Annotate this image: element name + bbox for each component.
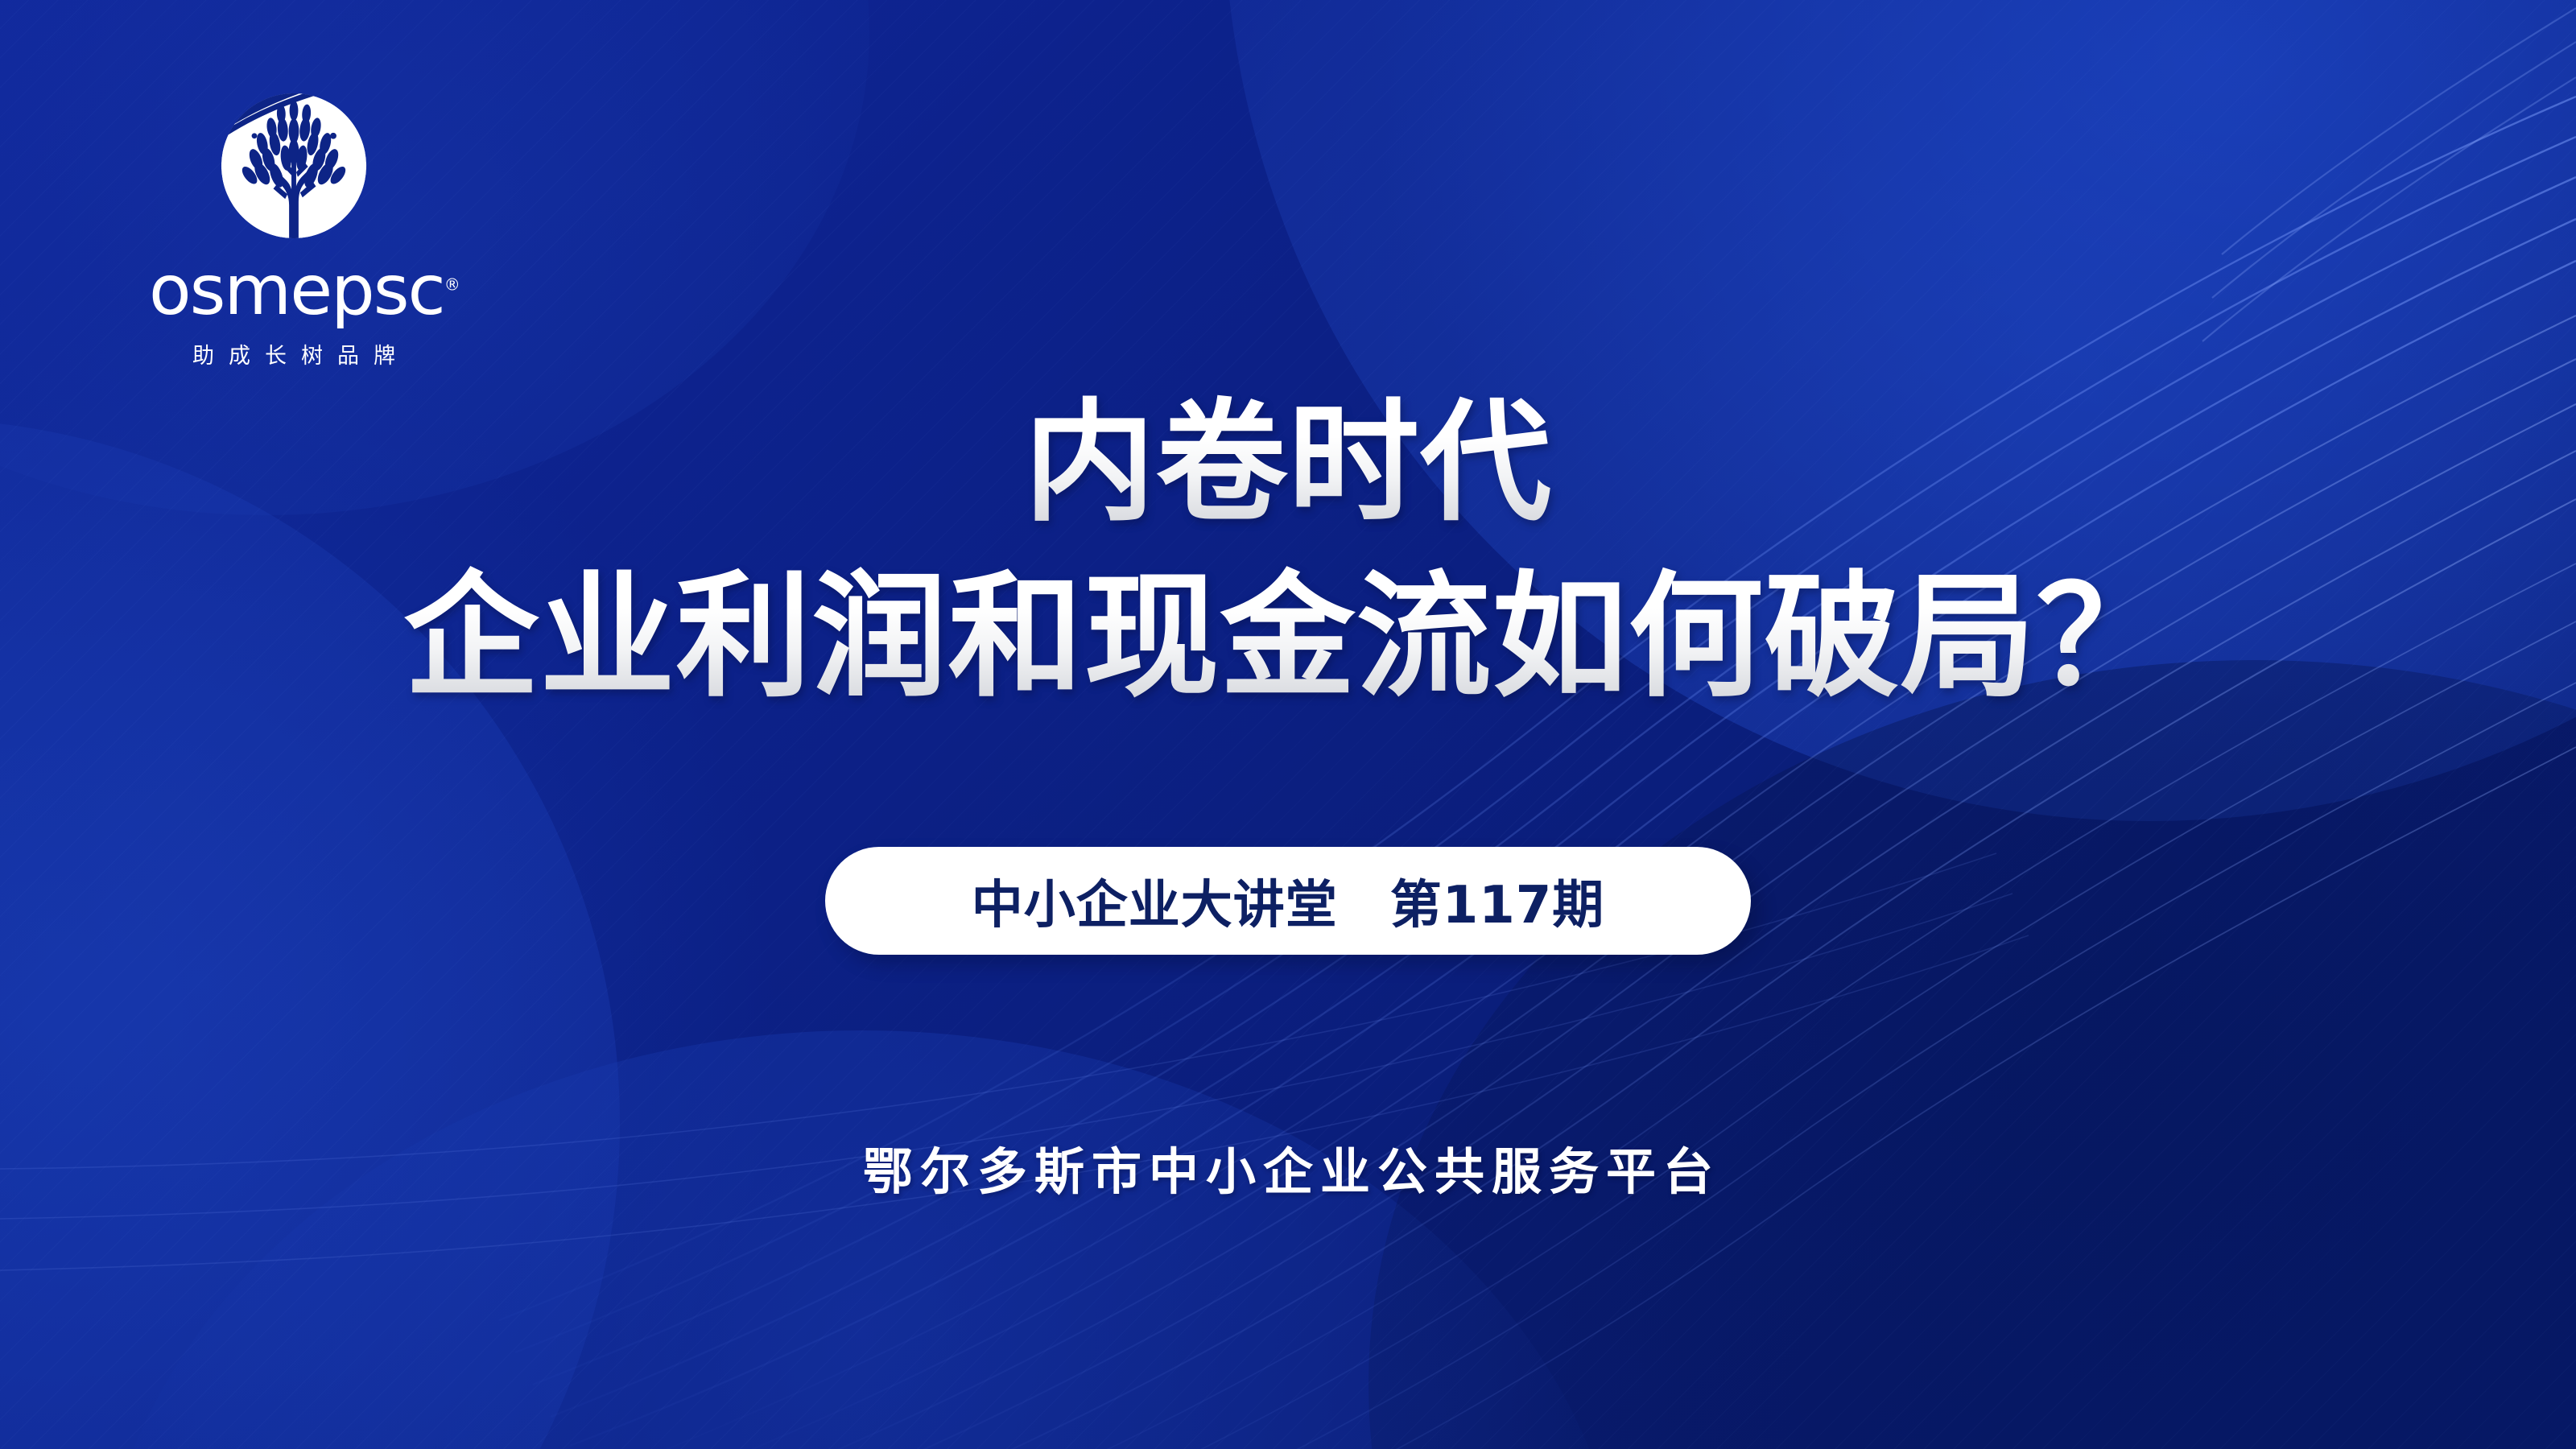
logo-wordmark: osmepsc® <box>149 256 439 325</box>
logo-wordmark-text: osmepsc <box>149 250 444 331</box>
tree-in-circle-icon <box>215 87 373 245</box>
series-badge-label: 中小企业大讲堂 第117期 <box>972 864 1605 938</box>
logo-tagline: 助成长树品牌 <box>149 338 439 369</box>
organization-name: 鄂尔多斯市中小企业公共服务平台 <box>856 1131 1720 1203</box>
title-line-1: 内卷时代 <box>0 378 2576 549</box>
brand-logo: osmepsc® 助成长树品牌 <box>149 87 439 369</box>
title-line-2: 企业利润和现金流如何破局？ <box>0 549 2576 724</box>
registered-trademark-icon: ® <box>444 275 460 294</box>
series-badge: 中小企业大讲堂 第117期 <box>825 847 1751 955</box>
page-title: 内卷时代 企业利润和现金流如何破局？ <box>0 378 2576 724</box>
footer: 鄂尔多斯市中小企业公共服务平台 <box>0 1131 2576 1203</box>
title-slide: osmepsc® 助成长树品牌 内卷时代 企业利润和现金流如何破局？ 中小企业大… <box>0 0 2576 1449</box>
